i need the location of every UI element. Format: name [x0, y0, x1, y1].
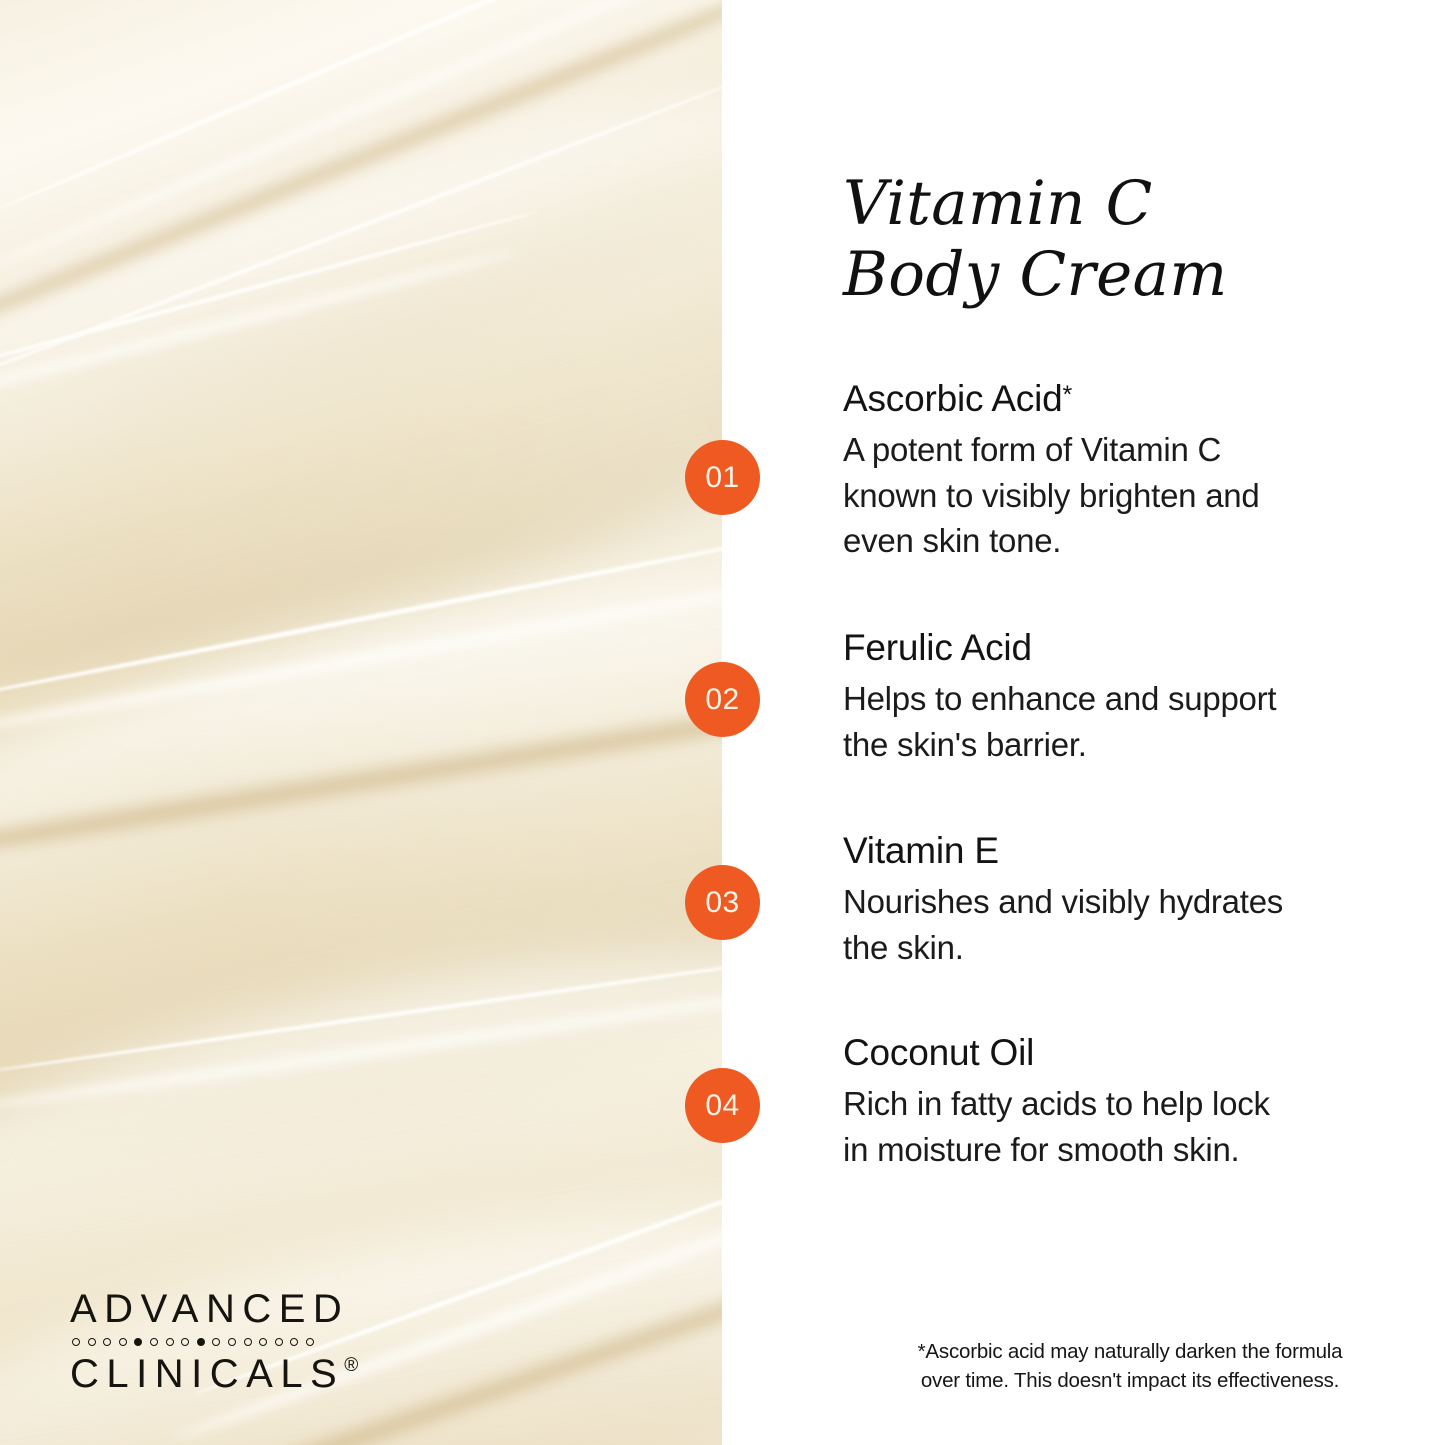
logo-line-clinicals: CLINICALS® — [70, 1353, 358, 1395]
footnote-disclaimer: *Ascorbic acid may naturally darken the … — [830, 1337, 1430, 1395]
logo-dot — [212, 1338, 220, 1346]
brand-logo: ADVANCED CLINICALS® — [70, 1288, 358, 1396]
ingredient-item-02: Ferulic Acid Helps to enhance and suppor… — [843, 627, 1435, 767]
logo-dot — [244, 1338, 252, 1346]
logo-dot — [306, 1338, 314, 1346]
title-line-2: Body Cream — [843, 239, 1403, 310]
ingredient-name-04: Coconut Oil — [843, 1032, 1435, 1074]
ingredient-description-03: Nourishes and visibly hydrates the skin. — [843, 879, 1435, 970]
page-title: Vitamin C Body Cream — [843, 168, 1403, 311]
logo-line-advanced: ADVANCED — [70, 1288, 358, 1330]
footnote-marker-icon: * — [1063, 381, 1073, 409]
desc-line: even skin tone. — [843, 518, 1435, 564]
ingredient-name-03: Vitamin E — [843, 830, 1435, 872]
logo-dot — [259, 1338, 267, 1346]
ingredient-description-04: Rich in fatty acids to help lock in mois… — [843, 1081, 1435, 1172]
step-badge-04: 04 — [685, 1068, 760, 1143]
desc-line: the skin. — [843, 925, 1435, 971]
title-line-1: Vitamin C — [843, 168, 1403, 239]
ingredient-item-01: Ascorbic Acid* A potent form of Vitamin … — [843, 378, 1435, 564]
ingredient-name-01: Ascorbic Acid* — [843, 378, 1435, 420]
content-panel: Vitamin C Body Cream Ascorbic Acid* A po… — [722, 0, 1445, 1445]
step-badge-03: 03 — [685, 865, 760, 940]
cream-texture-image: ADVANCED CLINICALS® — [0, 0, 722, 1445]
desc-line: the skin's barrier. — [843, 722, 1435, 768]
logo-dot — [166, 1338, 174, 1346]
desc-line: A potent form of Vitamin C — [843, 427, 1435, 473]
ingredient-item-03: Vitamin E Nourishes and visibly hydrates… — [843, 830, 1435, 970]
ingredient-name-text: Ascorbic Acid — [843, 378, 1063, 419]
step-badge-01: 01 — [685, 440, 760, 515]
logo-dot — [103, 1338, 111, 1346]
ingredient-name-text: Coconut Oil — [843, 1032, 1034, 1073]
logo-dot — [72, 1338, 80, 1346]
logo-dot-row — [72, 1333, 358, 1351]
product-infographic: ADVANCED CLINICALS® — [0, 0, 1445, 1445]
ingredient-name-02: Ferulic Acid — [843, 627, 1435, 669]
logo-dot — [290, 1338, 298, 1346]
footnote-line-2: over time. This doesn't impact its effec… — [830, 1366, 1430, 1395]
logo-dot — [119, 1338, 127, 1346]
ingredient-item-04: Coconut Oil Rich in fatty acids to help … — [843, 1032, 1435, 1172]
logo-dot — [275, 1338, 283, 1346]
logo-clinicals-text: CLINICALS — [70, 1352, 344, 1396]
ingredient-description-02: Helps to enhance and support the skin's … — [843, 676, 1435, 767]
ingredient-name-text: Ferulic Acid — [843, 627, 1032, 668]
ingredient-name-text: Vitamin E — [843, 830, 999, 871]
registered-trademark-icon: ® — [344, 1355, 358, 1376]
logo-dot — [181, 1338, 189, 1346]
logo-dot-filled — [197, 1338, 205, 1346]
footnote-line-1: *Ascorbic acid may naturally darken the … — [830, 1337, 1430, 1366]
desc-line: Nourishes and visibly hydrates — [843, 879, 1435, 925]
logo-dot — [150, 1338, 158, 1346]
logo-dot — [228, 1338, 236, 1346]
desc-line: known to visibly brighten and — [843, 473, 1435, 519]
ingredient-description-01: A potent form of Vitamin C known to visi… — [843, 427, 1435, 564]
desc-line: in moisture for smooth skin. — [843, 1127, 1435, 1173]
logo-dot-filled — [134, 1338, 142, 1346]
desc-line: Helps to enhance and support — [843, 676, 1435, 722]
desc-line: Rich in fatty acids to help lock — [843, 1081, 1435, 1127]
logo-dot — [88, 1338, 96, 1346]
step-badge-02: 02 — [685, 662, 760, 737]
